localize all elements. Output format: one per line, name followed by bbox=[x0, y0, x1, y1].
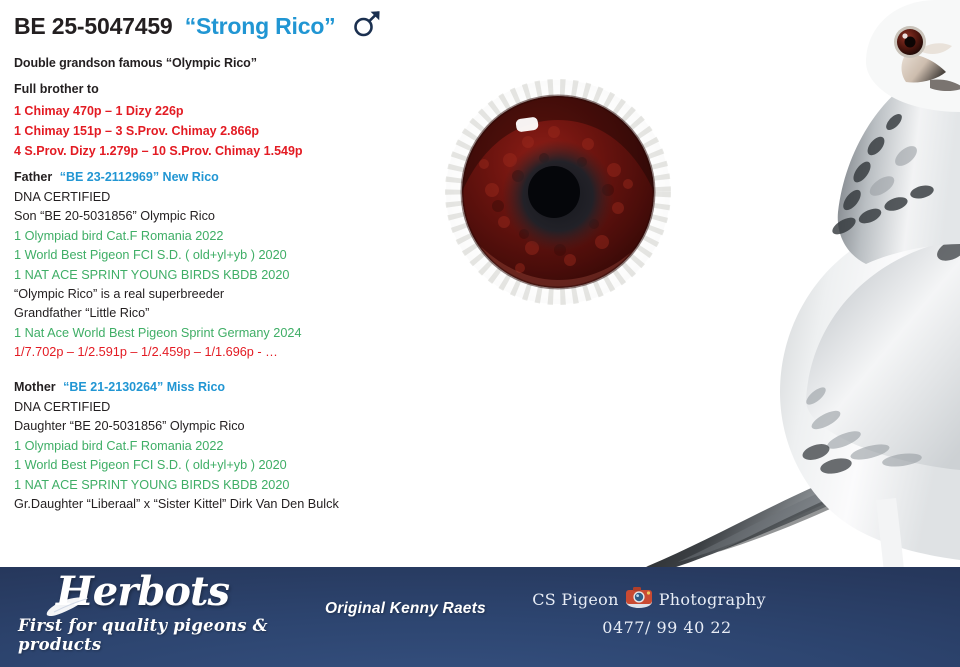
photographer-name-right: Photography bbox=[659, 590, 766, 609]
photographer-block: CS Pigeon Photography 0477/ 99 40 22 bbox=[534, 586, 764, 637]
mother-line: Gr.Daughter “Liberaal” x “Sister Kittel”… bbox=[14, 495, 474, 514]
mother-id: “BE 21-2130264” Miss Rico bbox=[63, 380, 225, 394]
full-brother-result: 1 Chimay 470p – 1 Dizy 226p bbox=[14, 104, 184, 118]
father-line: Grandfather “Little Rico” bbox=[14, 304, 474, 323]
full-brother-result: 1 Chimay 151p – 3 S.Prov. Chimay 2.866p bbox=[14, 124, 259, 138]
full-brother-result: 4 S.Prov. Dizy 1.279p – 10 S.Prov. Chima… bbox=[14, 144, 303, 158]
father-section: Father “BE 23-2112969” New Rico DNA CERT… bbox=[14, 170, 474, 363]
eye-closeup-photo bbox=[432, 72, 684, 324]
feather-icon bbox=[44, 594, 90, 625]
photographer-name-left: CS Pigeon bbox=[532, 590, 619, 609]
father-line: 1 World Best Pigeon FCI S.D. ( old+yl+yb… bbox=[14, 246, 474, 265]
mother-section: Mother “BE 21-2130264” Miss Rico DNA CER… bbox=[14, 380, 474, 514]
male-symbol-icon bbox=[352, 8, 382, 44]
mother-line: 1 NAT ACE SPRINT YOUNG BIRDS KBDB 2020 bbox=[14, 476, 474, 495]
father-line: 1 NAT ACE SPRINT YOUNG BIRDS KBDB 2020 bbox=[14, 266, 474, 285]
mother-label: Mother bbox=[14, 380, 56, 394]
father-line: 1 Olympiad bird Cat.F Romania 2022 bbox=[14, 227, 474, 246]
father-line: 1 Nat Ace World Best Pigeon Sprint Germa… bbox=[14, 324, 474, 343]
herbots-logo: Herbots First for quality pigeons & prod… bbox=[18, 572, 318, 654]
father-line: 1/7.702p – 1/2.591p – 1/2.459p – 1/1.696… bbox=[14, 343, 474, 362]
mother-line: Daughter “BE 20-5031856” Olympic Rico bbox=[14, 417, 474, 436]
father-line: Son “BE 20-5031856” Olympic Rico bbox=[14, 207, 474, 226]
pedigree-card: 4745 bbox=[0, 0, 960, 667]
camera-icon bbox=[624, 586, 654, 612]
full-brother-label: Full brother to bbox=[14, 82, 99, 96]
page-title: BE 25-5047459 “Strong Rico” bbox=[14, 8, 382, 44]
photographer-phone: 0477/ 99 40 22 bbox=[570, 618, 764, 637]
ring-number: BE 25-5047459 bbox=[14, 13, 173, 39]
father-line: DNA CERTIFIED bbox=[14, 188, 474, 207]
mother-line: DNA CERTIFIED bbox=[14, 398, 474, 417]
father-id: “BE 23-2112969” New Rico bbox=[60, 170, 219, 184]
mother-line: 1 World Best Pigeon FCI S.D. ( old+yl+yb… bbox=[14, 456, 474, 475]
mother-heading: Mother “BE 21-2130264” Miss Rico bbox=[14, 380, 474, 394]
father-heading: Father “BE 23-2112969” New Rico bbox=[14, 170, 474, 184]
photo-credit: Original Kenny Raets bbox=[325, 600, 486, 618]
mother-line: 1 Olympiad bird Cat.F Romania 2022 bbox=[14, 437, 474, 456]
father-label: Father bbox=[14, 170, 52, 184]
subtitle: Double grandson famous “Olympic Rico” bbox=[14, 56, 257, 70]
pigeon-nickname: “Strong Rico” bbox=[185, 13, 336, 39]
herbots-brand: Herbots bbox=[56, 572, 318, 612]
father-line: “Olympic Rico” is a real superbreeder bbox=[14, 285, 474, 304]
